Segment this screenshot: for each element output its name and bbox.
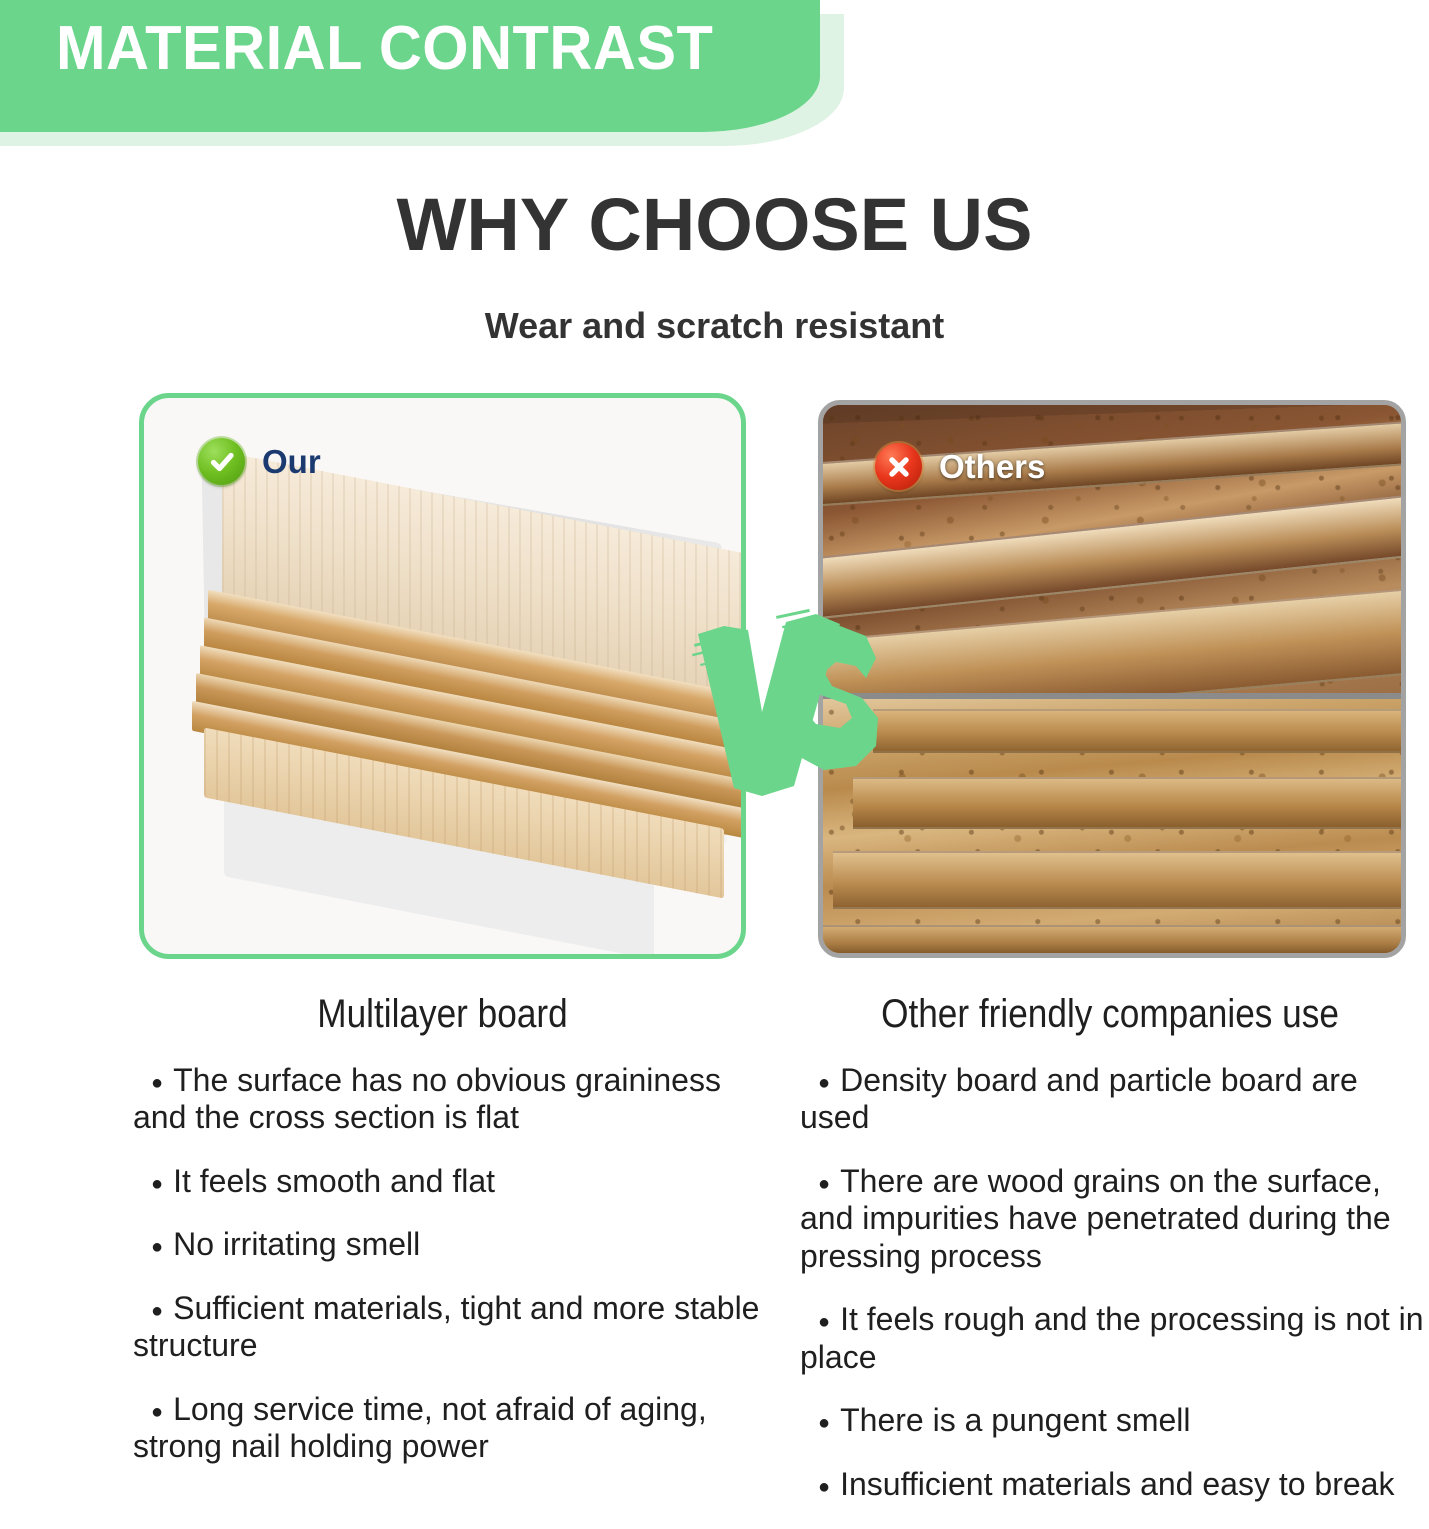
list-item: Density board and particle board are use…: [800, 1062, 1429, 1137]
particle-board-photo-bottom: [823, 699, 1401, 953]
page-title: WHY CHOOSE US: [0, 186, 1429, 264]
list-item: It feels smooth and flat: [133, 1163, 783, 1200]
our-product-image-panel: Our: [139, 393, 746, 959]
red-x-circle-icon: [875, 443, 922, 490]
others-product-image-panel: Others: [818, 400, 1406, 958]
list-item: It feels rough and the processing is not…: [800, 1301, 1429, 1376]
list-item: Insufficient materials and easy to break: [800, 1466, 1429, 1503]
others-badge: Others: [875, 443, 1045, 490]
left-caption: Multilayer board: [175, 992, 709, 1037]
list-item: Sufficient materials, tight and more sta…: [133, 1290, 783, 1365]
our-feature-list: The surface has no obvious graininess an…: [133, 1062, 783, 1492]
list-item: The surface has no obvious graininess an…: [133, 1062, 783, 1137]
list-item: There is a pungent smell: [800, 1402, 1429, 1439]
green-check-circle-icon: [198, 438, 245, 485]
right-caption: Other friendly companies use: [828, 992, 1391, 1037]
our-badge-label: Our: [262, 443, 321, 481]
others-feature-list: Density board and particle board are use…: [800, 1062, 1429, 1529]
vs-graphic: [690, 600, 880, 800]
banner-title: MATERIAL CONTRAST: [56, 18, 713, 80]
list-item: Long service time, not afraid of aging, …: [133, 1391, 783, 1466]
page-subtitle: Wear and scratch resistant: [0, 305, 1429, 347]
list-item: No irritating smell: [133, 1226, 783, 1263]
others-badge-label: Others: [939, 448, 1045, 486]
header-banner: MATERIAL CONTRAST: [0, 0, 880, 160]
our-badge: Our: [198, 438, 321, 485]
list-item: There are wood grains on the surface, an…: [800, 1163, 1429, 1275]
